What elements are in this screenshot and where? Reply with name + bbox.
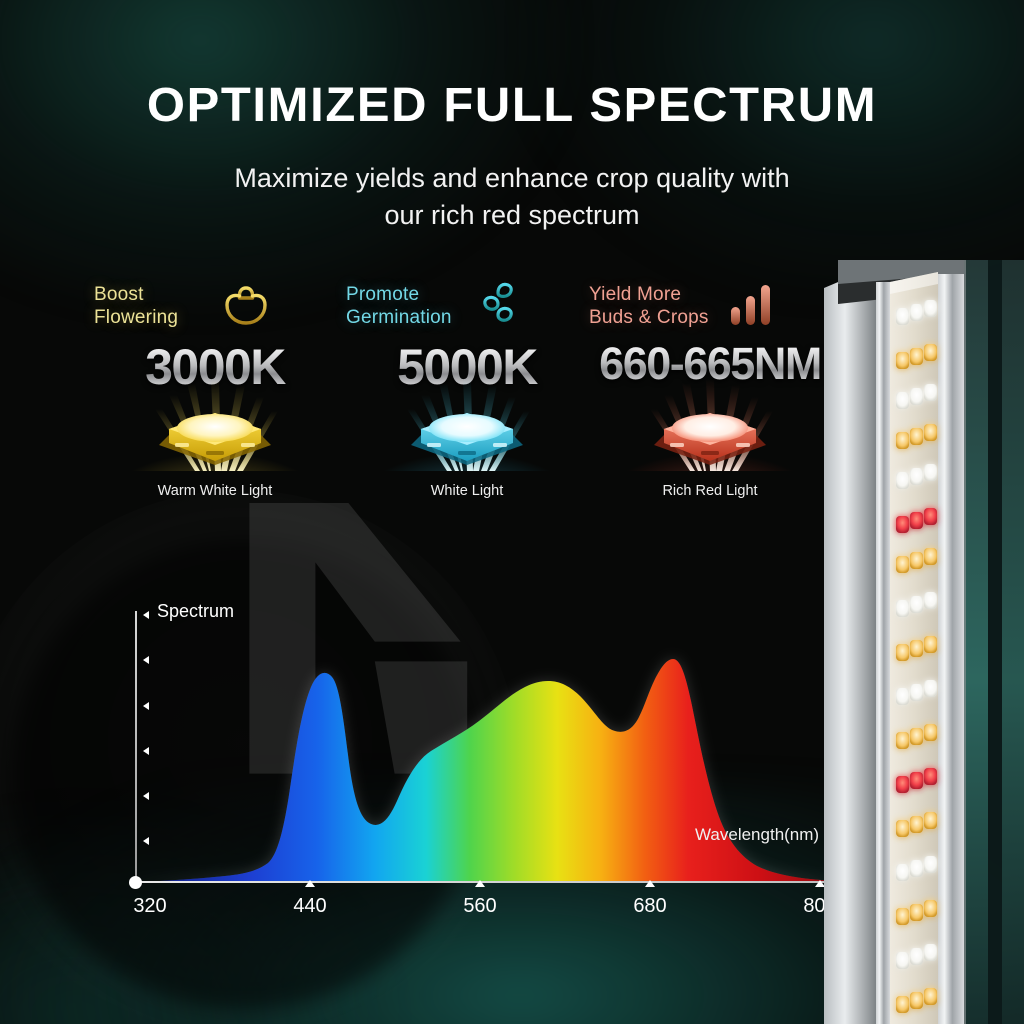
feature-card-rich-red: Yield More Buds & Crops 660-665NM: [575, 283, 845, 513]
spectrum-chart: Spectrum Wavelength(nm) 1.2 1.0 0.8 0.6 …: [95, 595, 865, 925]
feature-card-list: Boost Flowering 3000K: [70, 283, 860, 513]
page-subtitle: Maximize yields and enhance crop quality…: [0, 160, 1024, 234]
x-tick-mark: [305, 880, 315, 887]
sprout-icon: [470, 279, 526, 329]
x-axis-line: [135, 881, 861, 883]
x-axis-title: Wavelength(nm): [695, 825, 819, 845]
y-tick-mark: [143, 837, 149, 845]
y-tick-mark: [143, 656, 149, 664]
subtitle-line-2: our rich red spectrum: [0, 197, 1024, 234]
feature-caption: Warm White Light: [80, 483, 350, 499]
led-chip-body: [403, 399, 531, 475]
glow-top-right: [524, 0, 1024, 300]
promo-graphic: OPTIMIZED FULL SPECTRUM Maximize yields …: [0, 0, 1024, 1024]
y-tick-mark: [143, 747, 149, 755]
x-tick-label-440: 440: [270, 895, 350, 918]
x-tick-mark: [475, 880, 485, 887]
y-axis-line: [135, 611, 137, 883]
tulip-icon: [218, 279, 274, 329]
bar-chart-icon: [723, 279, 779, 329]
x-tick-label-560: 560: [440, 895, 520, 918]
y-tick-mark: [143, 702, 149, 710]
x-tick-label-680: 680: [610, 895, 690, 918]
feature-card-warm-white: Boost Flowering 3000K: [80, 283, 350, 513]
led-chip-rich-red: [575, 383, 845, 479]
led-grow-light-bar: [814, 260, 1024, 1024]
x-tick-label-320: 320: [110, 895, 190, 918]
feature-card-white: Promote Germination 5000K: [332, 283, 602, 513]
x-tick-mark: [645, 880, 655, 887]
origin-marker: [129, 876, 142, 889]
led-chip-white: [332, 383, 602, 479]
feature-caption: White Light: [332, 483, 602, 499]
page-title: OPTIMIZED FULL SPECTRUM: [0, 78, 1024, 133]
feature-caption: Rich Red Light: [575, 483, 845, 499]
led-chip-body: [646, 399, 774, 475]
subtitle-line-1: Maximize yields and enhance crop quality…: [0, 160, 1024, 197]
y-axis-title: Spectrum: [157, 601, 234, 622]
y-tick-mark: [143, 792, 149, 800]
y-tick-mark: [143, 611, 149, 619]
led-chip-body: [151, 399, 279, 475]
led-chip-warm-white: [80, 383, 350, 479]
